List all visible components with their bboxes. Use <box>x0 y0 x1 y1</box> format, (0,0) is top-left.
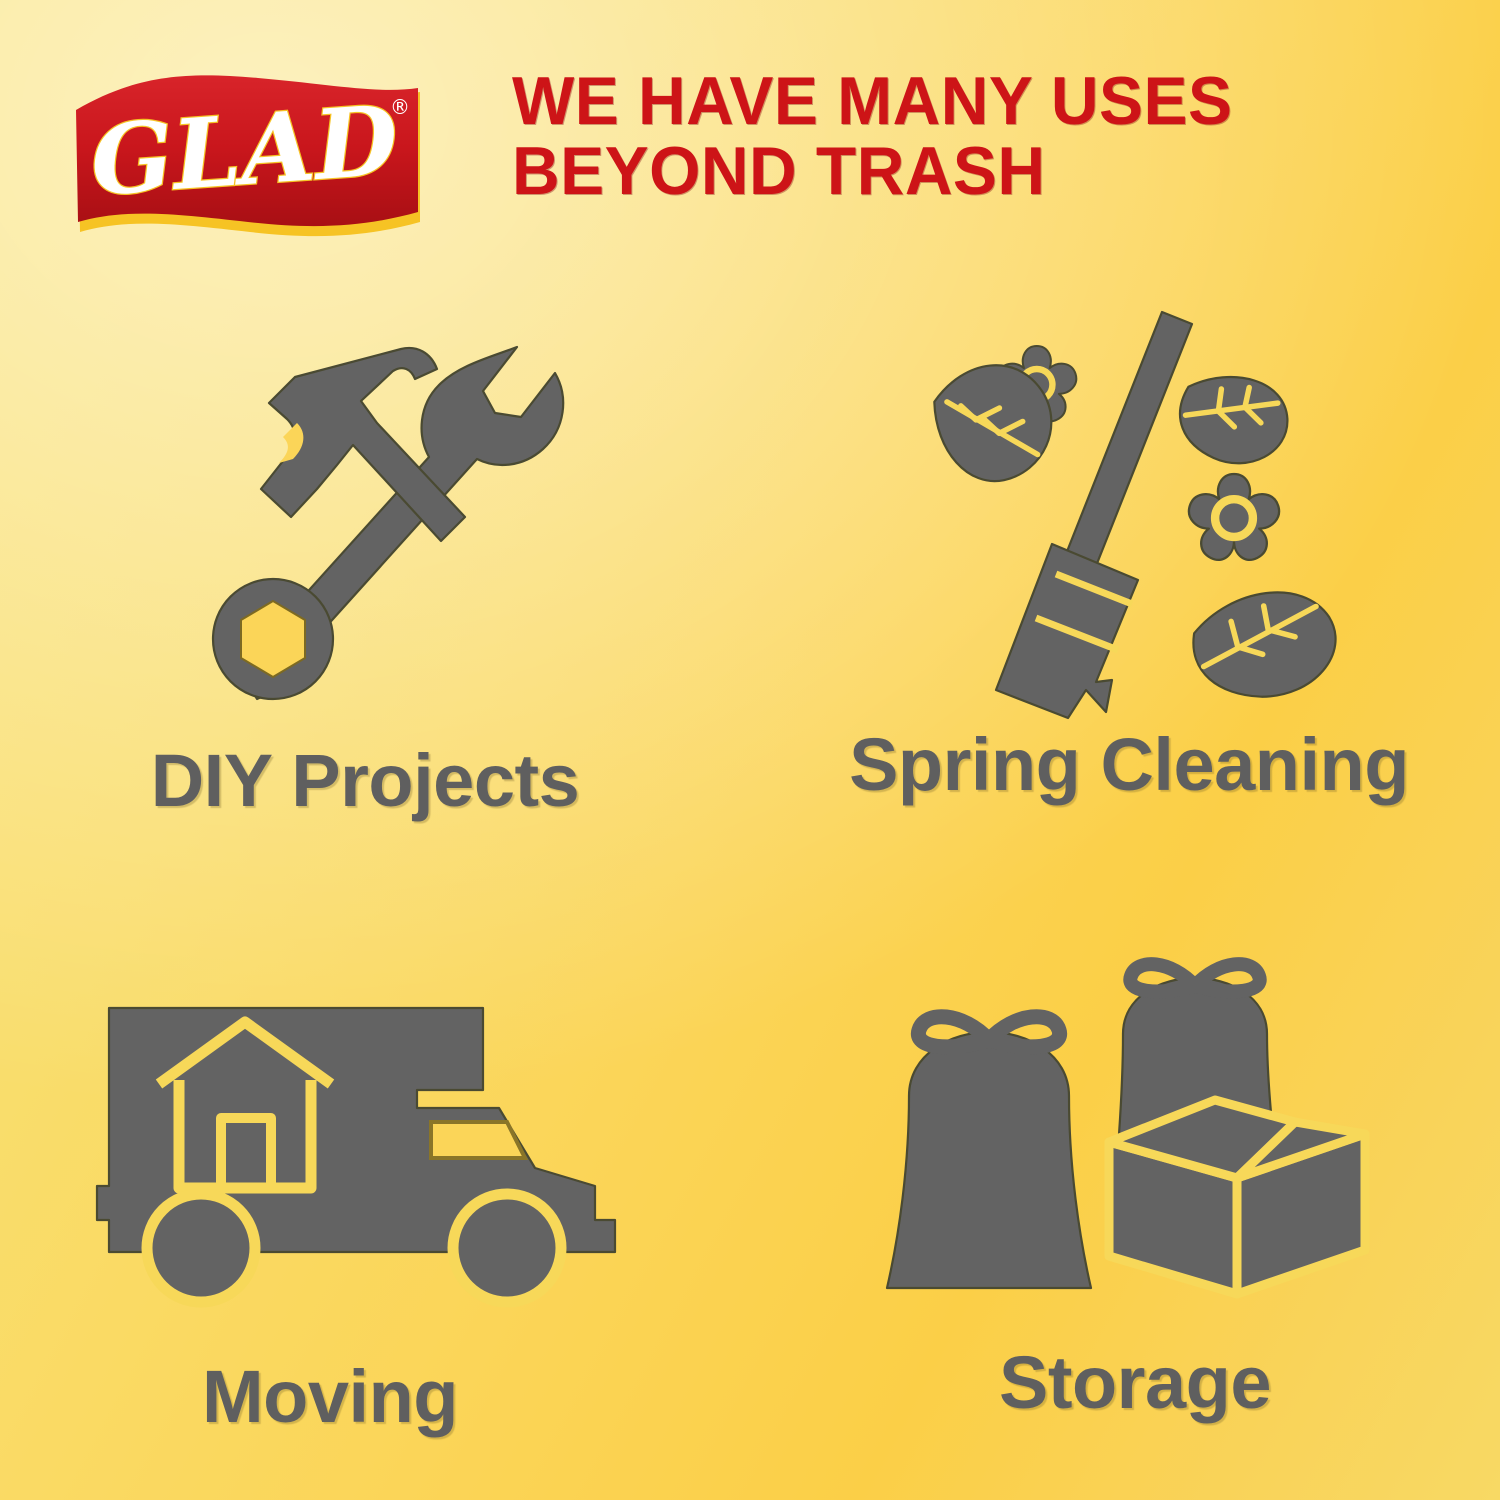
use-label-storage: Storage <box>999 1346 1271 1420</box>
trash-bag-icon <box>887 1017 1091 1288</box>
trash-bags-box-icon <box>750 916 1500 1346</box>
logo-wordmark: GLAD <box>87 83 401 217</box>
hammer-wrench-icon <box>0 314 750 744</box>
use-label-moving: Moving <box>202 1360 458 1434</box>
use-card-diy-projects: DIY Projects <box>0 300 750 900</box>
leaf-icon <box>1189 586 1341 703</box>
use-card-storage: Storage <box>750 900 1500 1500</box>
leaf-icon <box>1168 361 1298 477</box>
cardboard-box-icon <box>1109 1100 1365 1294</box>
use-card-spring-cleaning: Spring Cleaning <box>750 300 1500 900</box>
use-card-moving: Moving <box>0 900 750 1500</box>
use-label-spring-cleaning: Spring Cleaning <box>849 728 1409 802</box>
moving-truck-icon <box>0 930 750 1360</box>
glad-brand-logo: GLAD ® <box>70 72 425 244</box>
wheel-icon <box>453 1194 561 1302</box>
flower-icon <box>1189 474 1279 560</box>
wheel-icon <box>147 1194 255 1302</box>
headline-line-1: WE HAVE MANY USES <box>512 66 1414 136</box>
broom-flowers-leaves-icon <box>750 298 1500 728</box>
windshield-icon <box>431 1122 525 1158</box>
headline: WE HAVE MANY USES BEYOND TRASH <box>512 66 1442 206</box>
promo-poster: GLAD ® WE HAVE MANY USES BEYOND TRASH <box>0 0 1500 1500</box>
registered-trademark-icon: ® <box>390 95 410 119</box>
use-label-diy-projects: DIY Projects <box>151 744 580 818</box>
hex-ring-wrench-icon <box>213 579 333 699</box>
poster-header: GLAD ® WE HAVE MANY USES BEYOND TRASH <box>0 0 1500 270</box>
uses-grid: DIY Projects <box>0 300 1500 1500</box>
headline-line-2: BEYOND TRASH <box>512 136 1414 206</box>
